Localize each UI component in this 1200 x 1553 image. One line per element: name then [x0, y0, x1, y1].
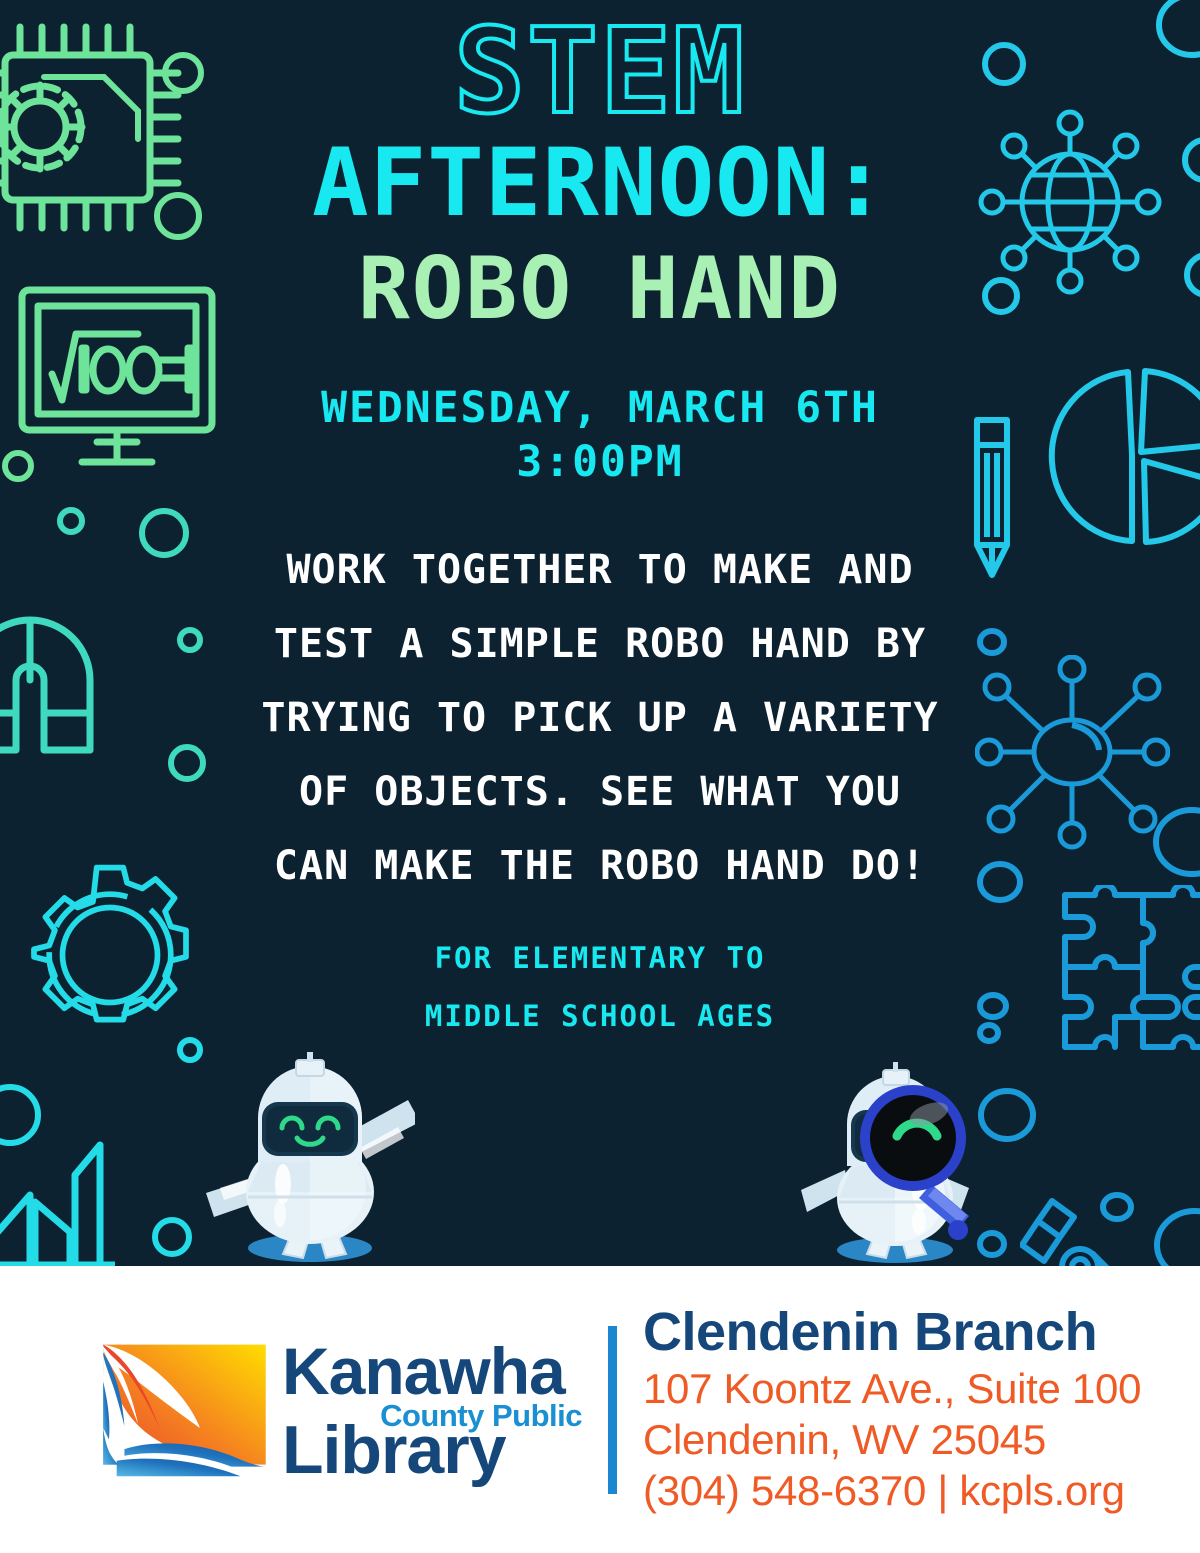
cog-icon [15, 860, 205, 1050]
branch-address: 107 Koontz Ave., Suite 100 [643, 1363, 1141, 1414]
circle-decoration-icon [152, 190, 204, 242]
monitor-math-icon [12, 282, 227, 472]
audience-line: MIDDLE SCHOOL AGES [365, 987, 835, 1045]
circle-decoration-icon [136, 505, 192, 561]
circle-decoration-icon [1152, 0, 1200, 70]
library-wordmark: Kanawha County Public Library [282, 1334, 582, 1486]
magnet-icon [0, 585, 150, 765]
circle-decoration-icon [975, 860, 1025, 905]
branch-info: Clendenin Branch 107 Koontz Ave., Suite … [643, 1302, 1141, 1516]
bar-chart-icon [0, 1130, 120, 1266]
audience-line: FOR ELEMENTARY TO [365, 929, 835, 987]
waving-robot-icon [200, 1052, 415, 1267]
open-book-logo-icon [95, 1335, 270, 1485]
logo-library-text: Library [282, 1416, 506, 1484]
logo-kanawha-text: Kanawha [282, 1338, 565, 1404]
title-afternoon: AFTERNOON: [312, 136, 888, 232]
footer: Kanawha County Public Library Clendenin … [0, 1266, 1200, 1553]
circle-decoration-icon [55, 505, 87, 537]
library-logo[interactable]: Kanawha County Public Library [95, 1334, 582, 1486]
event-date: WEDNESDAY, MARCH 6TH [321, 382, 879, 436]
circle-decoration-icon [975, 1020, 1003, 1046]
branch-contact[interactable]: (304) 548-6370 | kcpls.org [643, 1465, 1141, 1516]
circle-decoration-icon [975, 625, 1009, 659]
circle-decoration-icon [980, 40, 1028, 88]
pie-chart-icon [1040, 360, 1200, 545]
atom-icon [975, 655, 1170, 850]
audience-note: FOR ELEMENTARY TO MIDDLE SCHOOL AGES [365, 929, 835, 1045]
event-description: WORK TOGETHER TO MAKE AND TEST A SIMPLE … [220, 533, 980, 903]
globe-network-icon [975, 105, 1165, 300]
footer-divider [608, 1326, 617, 1494]
description-line: WORK TOGETHER TO MAKE AND [220, 533, 980, 607]
circle-decoration-icon [0, 448, 36, 484]
circle-decoration-icon [166, 742, 208, 784]
title-robo-hand: ROBO HAND [358, 246, 842, 334]
poster: STEM AFTERNOON: ROBO HAND WEDNESDAY, MAR… [0, 0, 1200, 1553]
description-line: OF OBJECTS. SEE WHAT YOU [220, 755, 980, 829]
title-stem: STEM [454, 12, 746, 130]
circle-decoration-icon [175, 625, 205, 655]
robot-with-magnifier-icon [795, 1062, 1000, 1267]
circle-decoration-icon [1180, 135, 1200, 185]
event-time: 3:00PM [516, 435, 683, 491]
description-line: TEST A SIMPLE ROBO HAND BY [220, 607, 980, 681]
branch-city-state-zip: Clendenin, WV 25045 [643, 1414, 1141, 1465]
branch-name: Clendenin Branch [643, 1302, 1141, 1362]
circle-decoration-icon [160, 50, 206, 96]
circle-decoration-icon [975, 990, 1011, 1022]
puzzle-icon [1045, 885, 1200, 1060]
description-line: TRYING TO PICK UP A VARIETY [220, 681, 980, 755]
circle-decoration-icon [150, 1215, 194, 1259]
microscope-icon [1020, 1195, 1160, 1266]
description-line: CAN MAKE THE ROBO HAND DO! [220, 829, 980, 903]
circle-decoration-icon [980, 275, 1022, 317]
circle-decoration-icon [1182, 250, 1200, 300]
circle-decoration-icon [1150, 805, 1200, 880]
